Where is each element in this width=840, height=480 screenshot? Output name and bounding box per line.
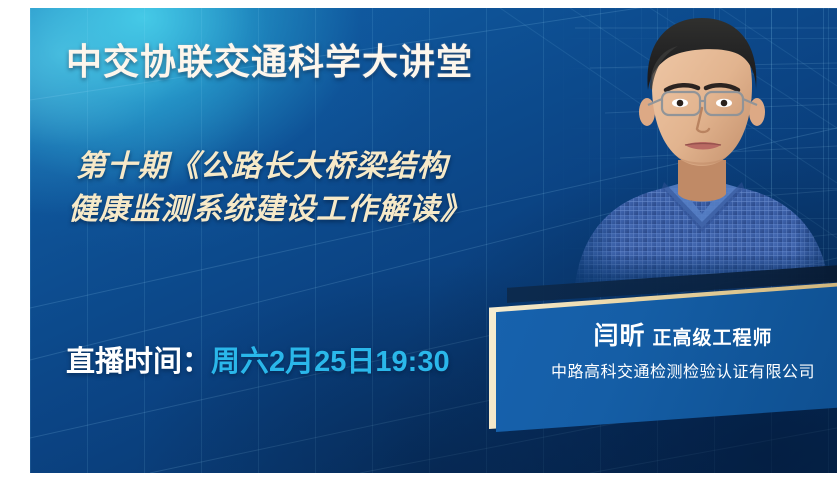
subtitle-line-2: 健康监测系统建设工作解读》: [68, 189, 471, 232]
speaker-name-row: 闫昕正高级工程师: [507, 316, 837, 352]
speaker-portrait: [566, 8, 837, 293]
subtitle: 第十期《公路长大桥梁结构 健康监测系统建设工作解读》: [76, 146, 471, 231]
speaker-panel-content: 闫昕正高级工程师 中路高科交通检测检验认证有限公司: [507, 284, 837, 432]
webinar-poster: 中交协联交通科学大讲堂 第十期《公路长大桥梁结构 健康监测系统建设工作解读》 直…: [30, 8, 837, 473]
speaker-organization: 中路高科交通检测检验认证有限公司: [507, 358, 837, 382]
speaker-panel: 闫昕正高级工程师 中路高科交通检测检验认证有限公司: [485, 263, 837, 443]
page-title: 中交协联交通科学大讲堂: [66, 33, 473, 85]
speaker-name: 闫昕: [593, 322, 645, 350]
subtitle-line-1: 第十期《公路长大桥梁结构: [76, 146, 471, 189]
live-time: 直播时间：周六2月25日19:30: [66, 338, 450, 380]
live-time-label: 直播时间：: [66, 346, 211, 378]
speaker-title: 正高级工程师: [653, 328, 773, 349]
live-time-value: 周六2月25日19:30: [211, 346, 450, 378]
